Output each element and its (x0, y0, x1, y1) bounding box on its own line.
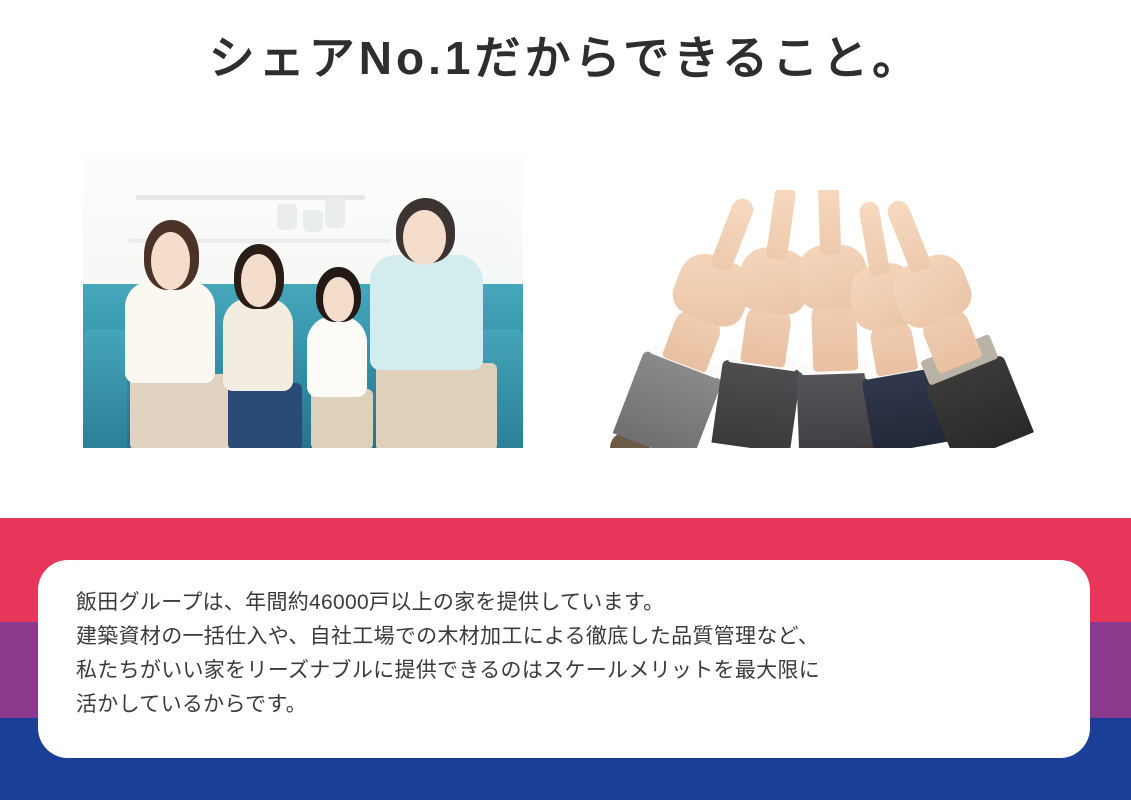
legs (228, 383, 302, 448)
description-card: 飯田グループは、年間約46000戸以上の家を提供しています。 建築資材の一括仕入… (38, 560, 1090, 758)
page-title: シェアNo.1だからできること。 (0, 30, 1131, 88)
family-sofa-photo (83, 150, 523, 448)
index-finger (818, 190, 841, 255)
description-text: 飯田グループは、年間約46000戸以上の家を提供しています。 建築資材の一括仕入… (76, 586, 1060, 722)
index-finger (884, 198, 932, 275)
shelf-jar-icon (277, 204, 297, 230)
face (241, 254, 276, 306)
legs (376, 363, 497, 448)
person-father (365, 198, 506, 448)
torso (307, 316, 367, 397)
raised-hands-photo (601, 190, 1041, 448)
face (151, 232, 190, 290)
suit-sleeve (711, 359, 801, 448)
sofa-arm-left (83, 329, 127, 448)
face (323, 277, 354, 322)
torso (223, 298, 293, 392)
shelf-jar-icon (325, 198, 345, 228)
page-root: シェアNo.1だからできること。 (0, 0, 1131, 800)
torso (370, 255, 483, 370)
shelf-jar-icon (303, 210, 323, 232)
face (403, 210, 447, 265)
torso (125, 281, 215, 383)
photo-row (0, 150, 1131, 450)
